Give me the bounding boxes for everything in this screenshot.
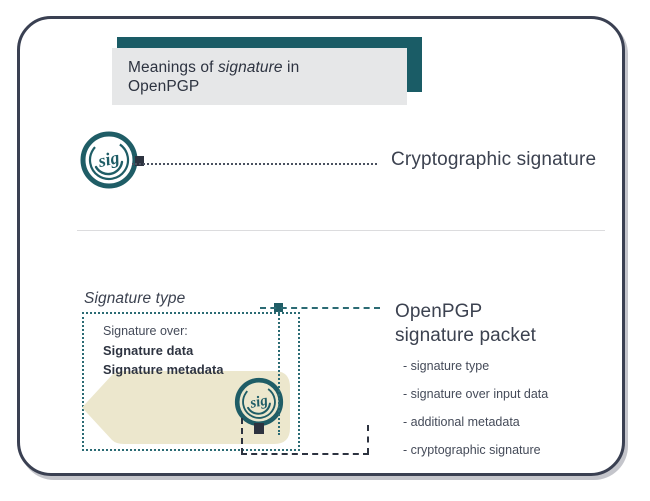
title-block: Meanings of signature in OpenPGP [112,37,422,97]
title-emphasis: signature [218,59,283,76]
connector-seal-across [241,453,369,455]
main-card: Meanings of signature in OpenPGP sig Cry… [17,16,625,476]
label-signature-data: Signature data [103,341,193,361]
packet-field-item: - cryptographic signature [403,443,633,457]
seal-connector-tab [254,423,264,434]
connector-node-drop [278,311,280,435]
connector-signature-type-to-packet [260,307,380,309]
packet-field-item: - additional metadata [403,415,633,429]
section-divider [77,230,605,231]
title-prefix: Meanings of [128,59,218,76]
label-openpgp-signature-packet: OpenPGP signature packet [395,300,536,348]
packet-title-line2: signature packet [395,324,536,348]
svg-text:sig: sig [248,392,270,412]
packet-field-list: - signature type - signature over input … [403,359,633,471]
title-suffix: OpenPGP [128,78,199,95]
connector-seal-down [241,418,243,454]
label-signature-metadata: Signature metadata [103,360,224,380]
label-signature-over: Signature over: [103,321,188,341]
title-box: Meanings of signature in OpenPGP [112,48,407,105]
diagram-canvas: Meanings of signature in OpenPGP sig Cry… [0,0,650,501]
packet-title-line1: OpenPGP [395,300,536,324]
packet-field-item: - signature type [403,359,633,373]
connector-crypto-signature [132,163,377,165]
label-cryptographic-signature: Cryptographic signature [391,149,596,171]
label-signature-type: Signature type [84,290,185,308]
packet-field-item: - signature over input data [403,387,633,401]
title-middle: in [283,59,300,76]
page-title: Meanings of signature in OpenPGP [128,58,407,96]
connector-seal-up-to-item [367,425,369,454]
sig-seal-icon-top: sig [78,129,140,191]
svg-text:sig: sig [95,147,121,171]
